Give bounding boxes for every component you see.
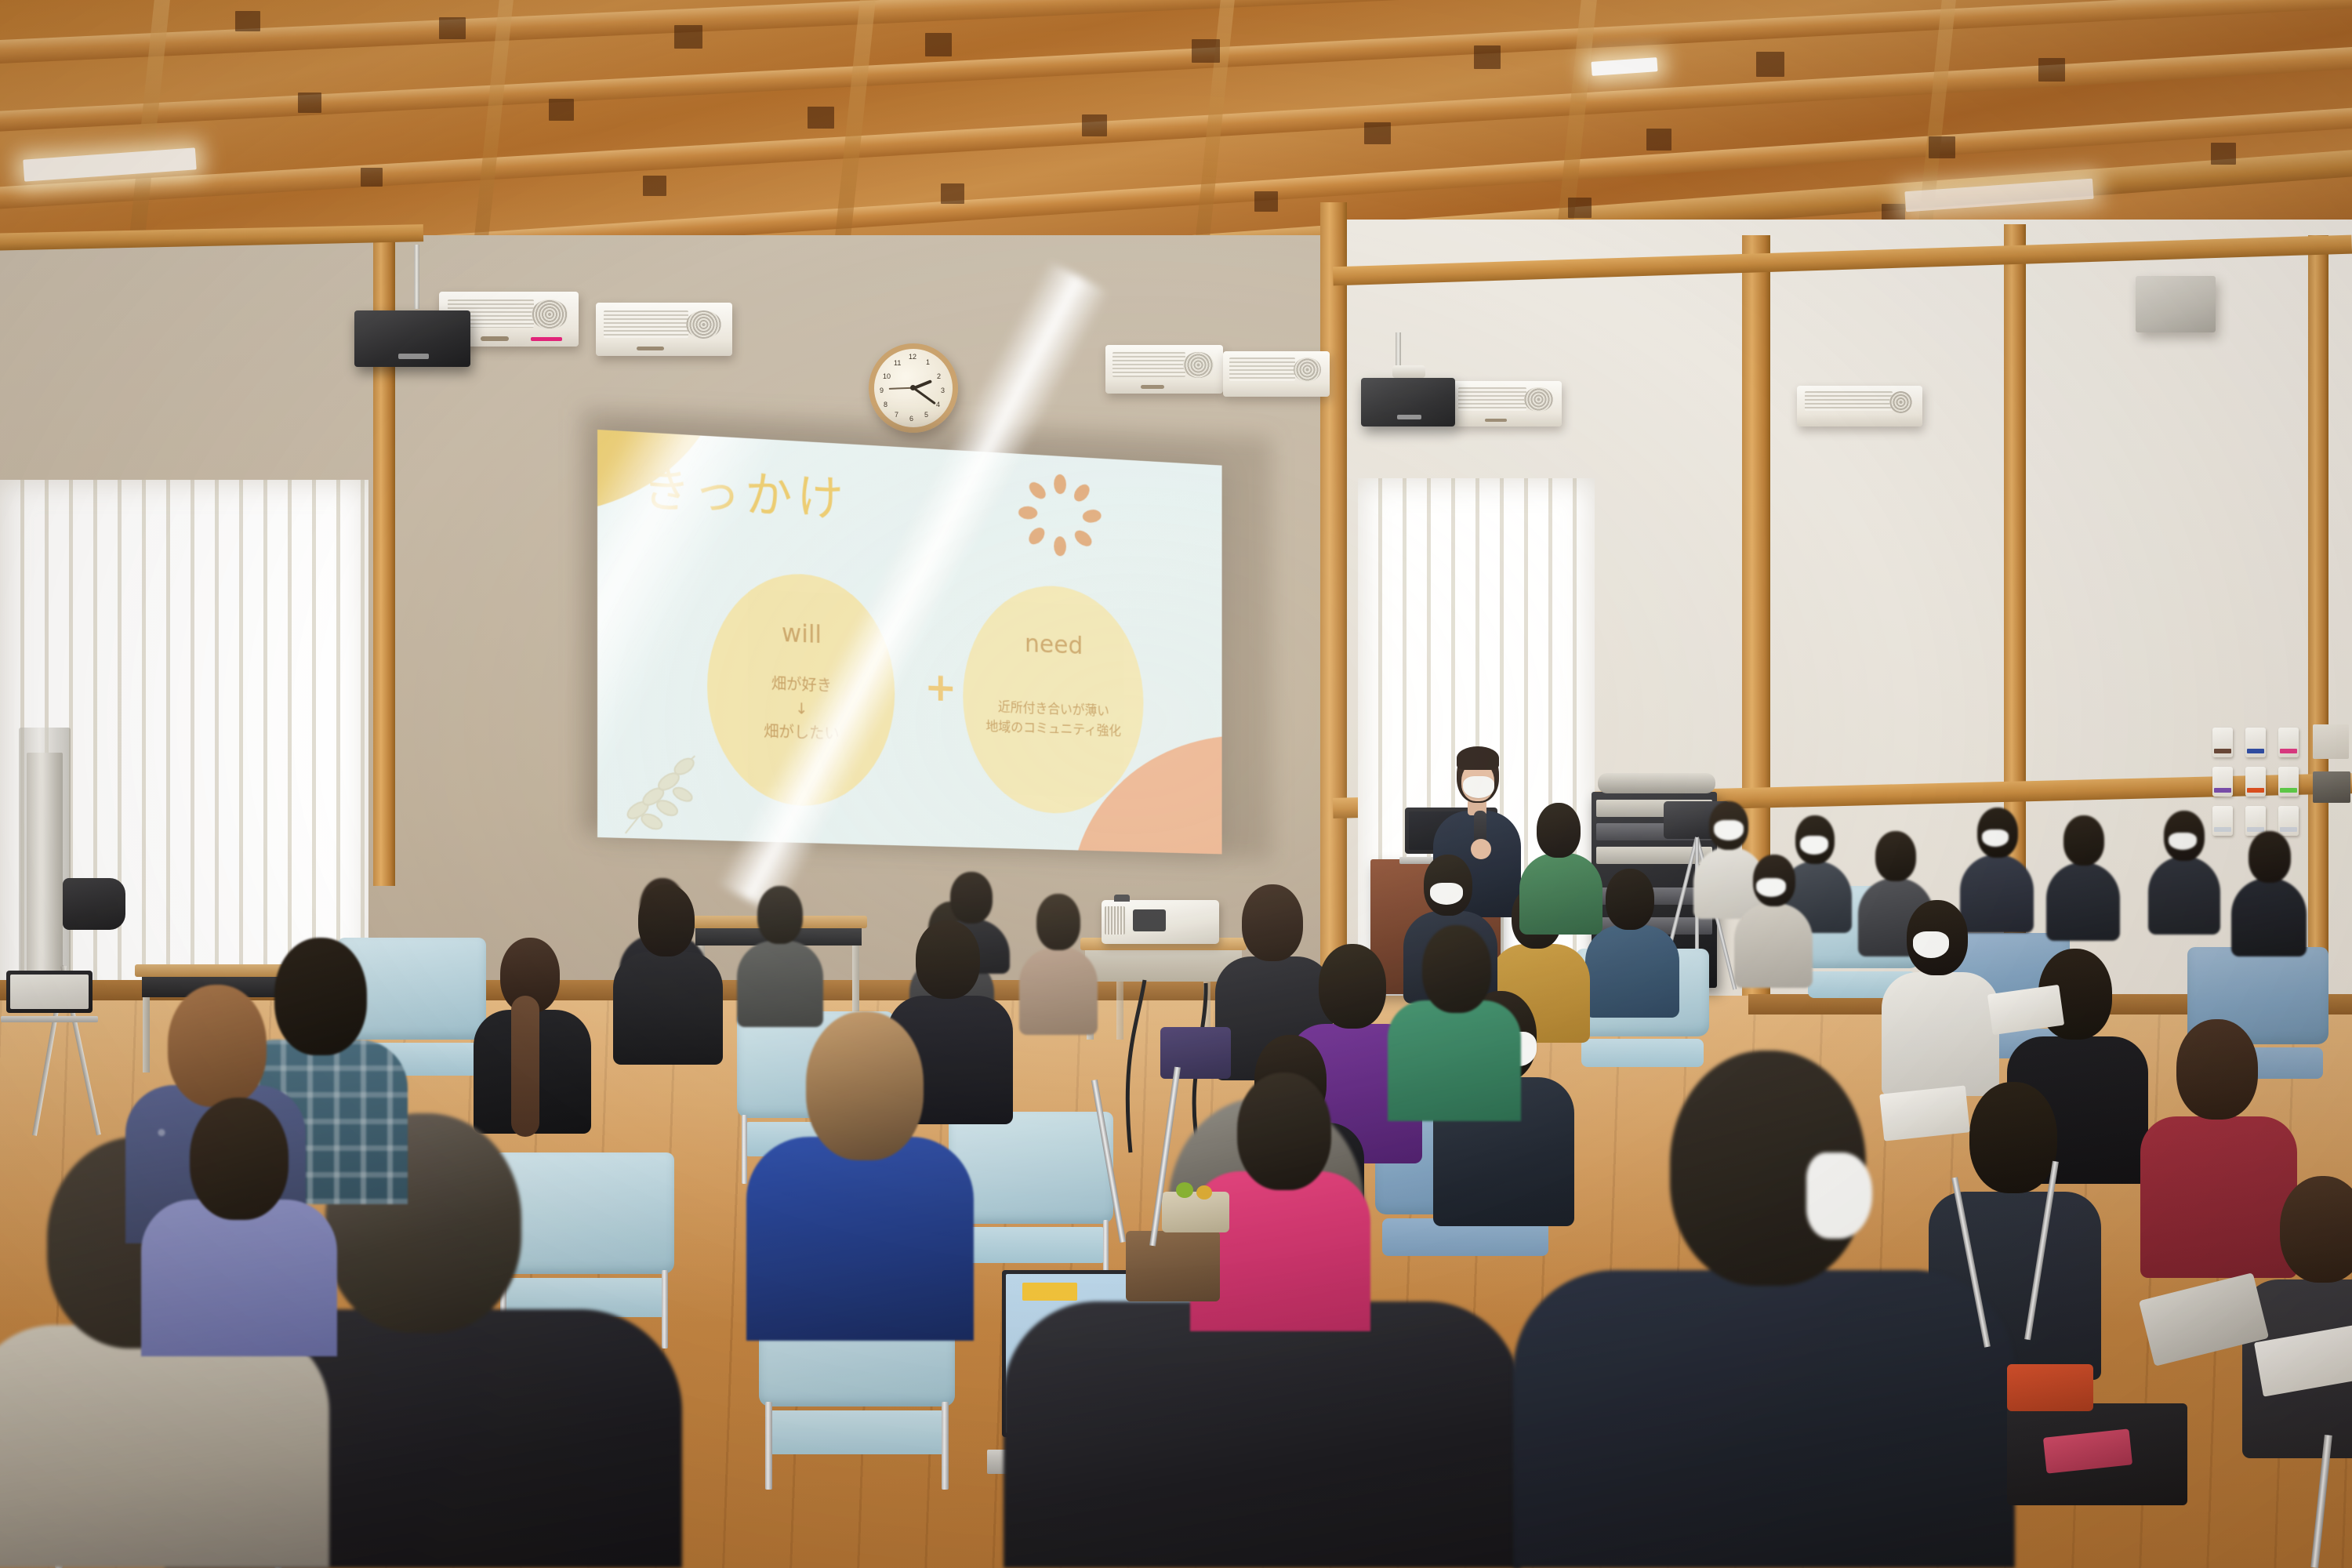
light-switch[interactable]	[2212, 767, 2233, 797]
clock-numeral: 10	[883, 372, 891, 380]
bag	[1176, 1182, 1193, 1198]
audience-member	[1019, 894, 1098, 1035]
bag	[1162, 1192, 1229, 1232]
foreground-attendee	[1513, 1051, 2015, 1568]
light-switch-panel[interactable]	[2212, 728, 2322, 837]
projector-ceiling-mount	[1392, 365, 1425, 378]
clock-minute-hand	[913, 387, 936, 405]
clock-numeral: 5	[924, 411, 928, 419]
air-conditioner-unit-right	[1797, 386, 1922, 426]
clock-numeral: 2	[937, 372, 941, 380]
audience-member	[2148, 811, 2220, 935]
ceiling-light	[1591, 57, 1657, 76]
light-switch[interactable]	[2278, 767, 2299, 797]
projector	[1102, 900, 1219, 944]
bag	[1160, 1027, 1231, 1079]
speaker-mount-pole	[414, 245, 419, 309]
presenter-face-mask	[1463, 776, 1494, 798]
wall-clock: 12 1 2 3 4 5 6 7 8 9 10 11	[869, 343, 958, 433]
audience-member	[737, 886, 823, 1027]
air-conditioner-unit	[1105, 345, 1223, 394]
audience-member	[1388, 925, 1521, 1121]
wall-speaker	[2136, 276, 2216, 332]
wall-panel-dark	[2313, 771, 2350, 803]
camera-stand-base	[19, 728, 71, 986]
air-conditioner-unit	[1223, 351, 1330, 397]
timber-post	[2308, 235, 2328, 1004]
bag	[2007, 1364, 2093, 1411]
clock-numeral: 6	[909, 415, 913, 423]
clock-numeral: 8	[884, 401, 887, 408]
ceiling-speaker	[1361, 378, 1455, 426]
video-camera	[63, 878, 125, 930]
light-switch[interactable]	[2245, 728, 2266, 757]
audience-member	[613, 884, 723, 1065]
clock-numeral: 11	[894, 359, 901, 367]
slide-decor-leaf-sprig	[612, 725, 728, 838]
slide-decor-petal-cluster	[1020, 472, 1102, 561]
slide-need-body: 近所付き合いが薄い 地域のコミュニティ強化	[963, 696, 1143, 742]
clock-numeral: 4	[936, 401, 940, 408]
audience-member	[1734, 855, 1813, 988]
clock-numeral: 9	[880, 387, 884, 394]
audience-member	[746, 1011, 974, 1341]
wall-control-plate[interactable]	[2313, 724, 2349, 759]
clock-numeral: 3	[941, 387, 945, 394]
slide-circle-need: need 近所付き合いが薄い 地域のコミュニティ強化	[963, 582, 1143, 816]
light-switch[interactable]	[2245, 767, 2266, 797]
clock-numeral: 1	[926, 358, 930, 366]
bag	[1126, 1231, 1220, 1301]
slide-plus-connector: +	[924, 664, 956, 711]
light-switch[interactable]	[2278, 728, 2299, 757]
audience-member	[1519, 803, 1602, 935]
light-switch[interactable]	[2212, 728, 2233, 757]
slide-need-heading: need	[963, 626, 1143, 662]
air-conditioner-unit	[596, 303, 732, 356]
audience-member	[2231, 831, 2307, 956]
rack-cable-bundle	[1598, 773, 1715, 793]
audience-member	[141, 1098, 337, 1356]
presenter-hair-fringe	[1457, 746, 1499, 770]
slide-title: きっかけ	[642, 449, 848, 530]
air-conditioner-unit	[1452, 381, 1562, 426]
ceiling-speaker	[354, 310, 470, 367]
audience-member	[2046, 815, 2120, 941]
control-laptop[interactable]	[6, 971, 93, 1022]
photo-scene: 12 1 2 3 4 5 6 7 8 9 10 11 きっかけ	[0, 0, 2352, 1568]
clock-numeral: 7	[895, 411, 898, 419]
clock-numeral: 12	[909, 353, 916, 361]
audience-member	[474, 938, 591, 1134]
bag	[1196, 1185, 1212, 1200]
